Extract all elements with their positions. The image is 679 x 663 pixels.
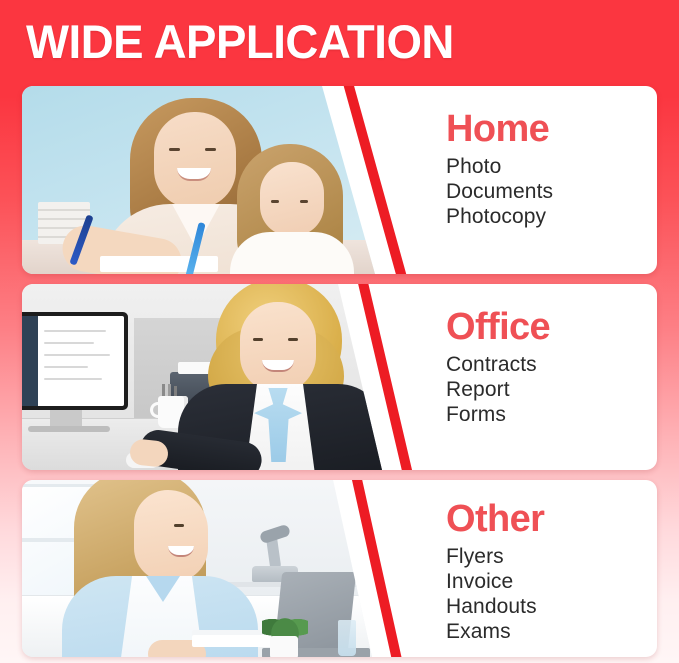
text-panel-other: Other Flyers Invoice Handouts Exams — [446, 480, 657, 657]
list-item: Flyers — [446, 544, 657, 569]
section-title-home: Home — [446, 108, 657, 150]
child-body — [230, 232, 354, 274]
list-item: Handouts — [446, 594, 657, 619]
list-item: Invoice — [446, 569, 657, 594]
photo-office — [22, 284, 382, 470]
list-item: Contracts — [446, 352, 657, 377]
text-panel-office: Office Contracts Report Forms — [446, 284, 657, 470]
photo-other — [22, 480, 382, 657]
mother-eye-left — [169, 148, 180, 151]
mother-eye-right — [205, 148, 216, 151]
list-item: Forms — [446, 402, 657, 427]
text-panel-home: Home Photo Documents Photocopy — [446, 86, 657, 274]
list-item: Report — [446, 377, 657, 402]
monitor-text-line — [44, 342, 94, 344]
woman-face — [134, 490, 208, 582]
section-title-office: Office — [446, 306, 657, 348]
section-items-office: Contracts Report Forms — [446, 352, 657, 427]
woman-face — [240, 302, 316, 392]
monitor-screen — [22, 316, 124, 406]
monitor-text-line — [44, 366, 88, 368]
section-items-home: Photo Documents Photocopy — [446, 154, 657, 229]
child-eye-right — [300, 200, 308, 203]
child-face — [260, 162, 324, 236]
list-item: Photo — [446, 154, 657, 179]
glass-beaker — [338, 620, 356, 656]
section-card-list: Home Photo Documents Photocopy — [22, 86, 657, 657]
section-card-home[interactable]: Home Photo Documents Photocopy — [22, 86, 657, 274]
monitor-base — [28, 426, 110, 432]
woman-eye-right — [288, 338, 298, 341]
section-card-other[interactable]: Other Flyers Invoice Handouts Exams — [22, 480, 657, 657]
section-title-other: Other — [446, 498, 657, 540]
monitor — [22, 312, 128, 410]
section-items-other: Flyers Invoice Handouts Exams — [446, 544, 657, 644]
monitor-text-line — [44, 330, 106, 332]
paper-sheet — [100, 256, 218, 272]
list-item: Documents — [446, 179, 657, 204]
photo-home-scene — [22, 86, 382, 274]
monitor-text-line — [44, 378, 102, 380]
mother-face — [154, 112, 236, 208]
woman-eye — [174, 524, 184, 527]
list-item: Photocopy — [446, 204, 657, 229]
monitor-text-line — [44, 354, 110, 356]
potted-plant-pot — [270, 636, 298, 657]
monitor-sidebar — [22, 316, 38, 406]
photo-office-scene — [22, 284, 382, 470]
photo-home — [22, 86, 382, 274]
photo-other-scene — [22, 480, 382, 657]
woman-eye-left — [253, 338, 263, 341]
section-card-office[interactable]: Office Contracts Report Forms — [22, 284, 657, 470]
list-item: Exams — [446, 619, 657, 644]
page-title: WIDE APPLICATION — [26, 16, 454, 68]
child-eye-left — [271, 200, 279, 203]
